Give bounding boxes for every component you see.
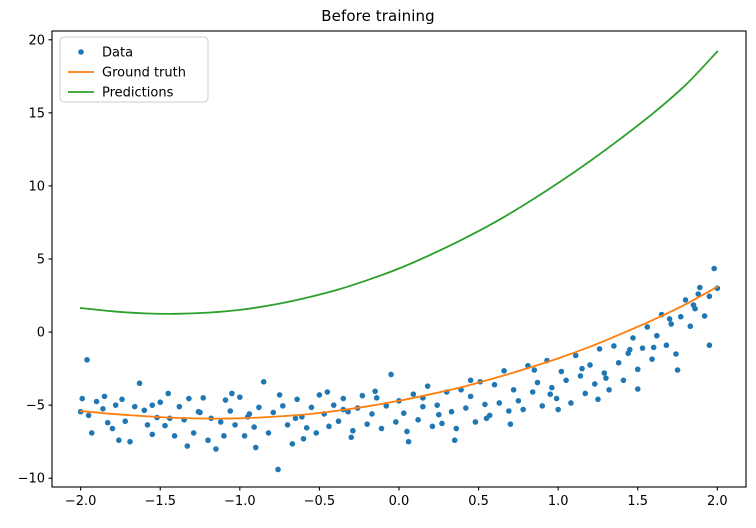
data-point [162, 423, 168, 429]
data-point [568, 400, 574, 406]
data-point [630, 335, 636, 341]
data-point [116, 437, 122, 443]
data-point [275, 467, 281, 473]
data-point [256, 405, 262, 411]
data-point [102, 394, 108, 400]
data-point [364, 421, 370, 427]
data-point [374, 395, 380, 401]
data-point [635, 386, 641, 392]
data-point [177, 404, 183, 410]
x-tick-label: 1.0 [548, 494, 569, 509]
series-data-scatter [78, 266, 720, 473]
data-point [420, 404, 426, 410]
x-tick-label: −1.5 [144, 494, 176, 509]
data-point [393, 419, 399, 425]
y-tick-label: 15 [28, 106, 45, 121]
data-point [587, 362, 593, 368]
data-point [304, 425, 310, 431]
data-point [611, 343, 617, 349]
data-point [683, 297, 689, 303]
data-point [707, 293, 713, 299]
data-point [554, 396, 560, 402]
data-point [691, 302, 697, 308]
data-point [436, 412, 442, 418]
data-point [654, 333, 660, 339]
data-point [218, 419, 224, 425]
data-point [687, 323, 693, 329]
data-point [137, 380, 143, 386]
data-point [430, 424, 436, 430]
x-tick-label: −2.0 [65, 494, 97, 509]
data-point [579, 366, 585, 372]
data-point [668, 321, 674, 327]
data-point [667, 316, 673, 322]
data-point [86, 413, 92, 419]
data-point [506, 408, 512, 414]
y-tick-label: 5 [37, 253, 45, 268]
data-point [649, 356, 655, 362]
data-point [388, 372, 394, 378]
data-point [401, 410, 407, 416]
data-point [336, 418, 342, 424]
legend[interactable]: DataGround truthPredictions [60, 37, 208, 102]
data-point [645, 324, 651, 330]
data-point [113, 402, 119, 408]
data-point [280, 403, 286, 409]
data-point [350, 428, 356, 434]
data-point [463, 405, 469, 411]
data-point [425, 383, 431, 389]
data-point [415, 417, 421, 423]
y-tick-label: −5 [26, 399, 45, 414]
x-tick-label: 2.0 [707, 494, 728, 509]
data-point [79, 396, 85, 402]
data-point [157, 399, 163, 405]
data-point [89, 430, 95, 436]
data-point [496, 400, 502, 406]
data-point [675, 367, 681, 373]
data-point [270, 410, 276, 416]
x-axis-ticks: −2.0−1.5−1.0−0.50.00.51.01.52.0 [65, 487, 728, 509]
data-point [237, 394, 243, 400]
data-point [227, 408, 233, 414]
data-point [468, 378, 474, 384]
data-point [84, 357, 90, 363]
data-point [369, 411, 375, 417]
data-point [191, 430, 197, 436]
data-point [492, 382, 498, 388]
data-point [360, 393, 366, 399]
data-point [501, 368, 507, 374]
data-point [563, 378, 569, 384]
data-point [340, 396, 346, 402]
data-point [145, 422, 151, 428]
data-point [411, 391, 417, 397]
data-point [149, 432, 155, 438]
data-point [94, 399, 100, 405]
data-point [229, 391, 235, 397]
data-point [223, 397, 229, 403]
data-point [285, 422, 291, 428]
data-point [372, 388, 378, 394]
data-point [221, 433, 227, 439]
legend-label-text: Ground truth [102, 66, 186, 81]
legend-label-text: Predictions [102, 86, 174, 101]
data-point [547, 391, 553, 397]
data-point [702, 313, 708, 319]
legend-label-text: Data [102, 46, 133, 61]
data-point [697, 285, 703, 291]
data-point [326, 424, 332, 430]
data-point [473, 419, 479, 425]
legend-marker-dot [78, 49, 84, 55]
data-point [640, 345, 646, 351]
data-point [290, 441, 296, 447]
y-tick-label: 10 [28, 179, 45, 194]
data-point [142, 407, 148, 413]
plot-area: −2.0−1.5−1.0−0.50.00.51.01.52.0 −10−5051… [0, 0, 756, 528]
data-point [213, 446, 219, 452]
data-point [294, 397, 300, 403]
data-point [516, 398, 522, 404]
data-point [301, 436, 307, 442]
data-point [484, 416, 490, 422]
data-point [172, 433, 178, 439]
data-point [530, 389, 536, 395]
data-point [331, 402, 337, 408]
x-tick-label: 1.5 [627, 494, 648, 509]
data-point [673, 351, 679, 357]
y-tick-label: 0 [37, 326, 45, 341]
data-point [185, 443, 191, 449]
data-point [197, 410, 203, 416]
data-point [711, 266, 717, 272]
x-tick-label: −0.5 [304, 494, 336, 509]
data-point [242, 433, 248, 439]
data-point [253, 445, 259, 451]
data-point [627, 347, 633, 353]
data-point [482, 402, 488, 408]
data-point [165, 391, 171, 397]
data-point [261, 379, 267, 385]
data-point [454, 426, 460, 432]
data-point [578, 373, 584, 379]
data-point [379, 426, 385, 432]
data-point [452, 437, 458, 443]
data-point [325, 389, 331, 395]
data-point [205, 437, 211, 443]
data-point [651, 345, 657, 351]
data-point [277, 392, 283, 398]
y-axis-ticks: −10−505101520 [18, 33, 52, 486]
figure-canvas: Before training −2.0−1.5−1.0−0.50.00.51.… [0, 0, 756, 528]
data-point [119, 397, 125, 403]
data-point [621, 378, 627, 384]
data-point [549, 385, 555, 391]
data-point [602, 370, 608, 376]
data-point [232, 422, 238, 428]
data-point [635, 367, 641, 373]
data-point [200, 395, 206, 401]
data-point [582, 391, 588, 397]
data-point [678, 314, 684, 320]
data-point [122, 418, 128, 424]
data-point [149, 402, 155, 408]
data-point [595, 397, 601, 403]
data-point [110, 426, 116, 432]
data-point [592, 381, 598, 387]
x-tick-label: 0.5 [468, 494, 489, 509]
data-point [404, 429, 410, 435]
data-point [439, 421, 445, 427]
data-point [100, 406, 106, 412]
x-tick-label: −1.0 [224, 494, 256, 509]
data-point [520, 407, 526, 413]
data-point [603, 375, 609, 381]
data-point [348, 435, 354, 441]
data-point [132, 404, 138, 410]
y-tick-label: −10 [18, 472, 45, 487]
data-point [511, 387, 517, 393]
data-point [127, 439, 133, 445]
data-point [539, 403, 545, 409]
data-point [508, 421, 514, 427]
data-point [406, 439, 412, 445]
data-point [434, 402, 440, 408]
data-point [468, 394, 474, 400]
data-point [105, 420, 111, 426]
y-tick-label: 20 [28, 33, 45, 48]
data-point [707, 342, 713, 348]
data-point [532, 367, 538, 373]
data-point [559, 369, 565, 375]
data-point [266, 430, 272, 436]
data-point [449, 409, 455, 415]
data-point [555, 407, 561, 413]
data-point [597, 346, 603, 352]
x-tick-label: 0.0 [389, 494, 410, 509]
data-point [186, 396, 192, 402]
data-point [664, 342, 670, 348]
data-point [313, 430, 319, 436]
data-point [606, 387, 612, 393]
data-point [616, 360, 622, 366]
data-point [317, 392, 323, 398]
data-point [309, 405, 315, 411]
data-point [535, 380, 541, 386]
data-point [251, 424, 257, 430]
